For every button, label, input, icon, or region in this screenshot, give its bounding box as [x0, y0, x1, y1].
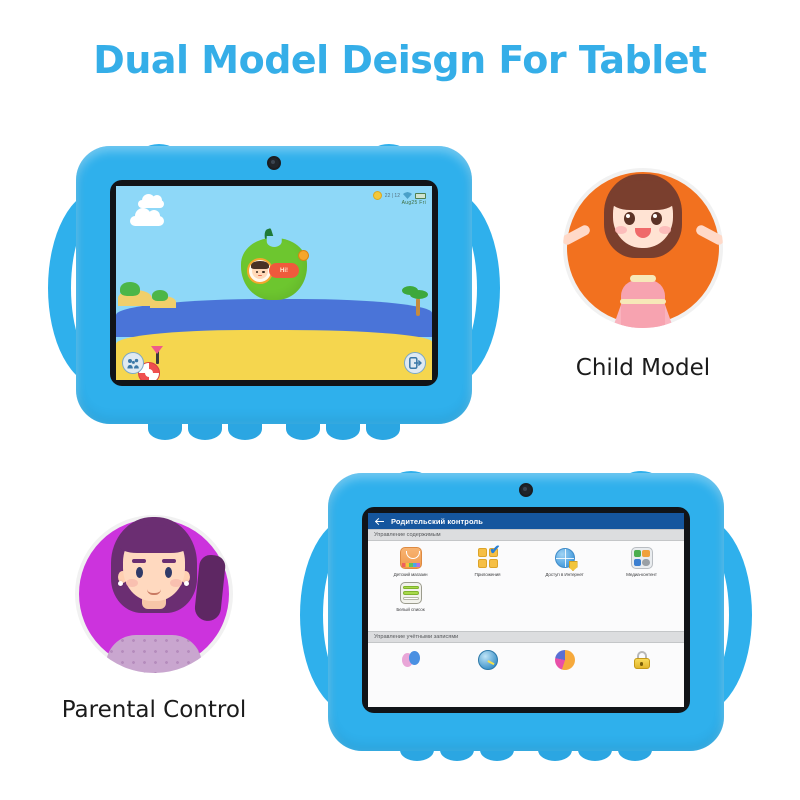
girl-eye: [624, 212, 635, 225]
girl-eye: [651, 212, 662, 225]
cloud-icon: [130, 216, 164, 226]
pc-item-internet[interactable]: Доступ в Интернет: [526, 546, 603, 577]
woman-ponytail: [194, 554, 227, 622]
padlock-icon: [630, 648, 654, 672]
apps-grid-icon: ✔: [476, 546, 500, 570]
accounts-icon-grid: [368, 643, 684, 674]
product-feature-image: Dual Model Deisgn For Tablet: [0, 0, 800, 800]
sand-background: [116, 330, 432, 380]
child-model-caption: Child Model: [513, 355, 773, 381]
status-bar: 22 | 12: [373, 191, 426, 200]
girl-cheek: [659, 226, 671, 234]
tablet-screen-child[interactable]: 22 | 12 Aug25 Fri: [116, 186, 432, 380]
girl-belt: [620, 299, 666, 304]
woman-shirt-pattern: [106, 635, 202, 673]
greeting-badge: Hi!: [269, 263, 299, 278]
section-body-accounts: [368, 643, 684, 707]
avatar-hair: [251, 261, 269, 269]
status-date: Aug25 Fri: [402, 200, 426, 206]
back-arrow-icon[interactable]: [375, 517, 385, 526]
pc-item-media[interactable]: Медиа-контент: [603, 546, 680, 577]
front-camera-icon: [519, 483, 533, 497]
girl-dress: [621, 280, 665, 328]
woman-avatar-icon: [75, 515, 233, 673]
girl-fringe: [611, 180, 675, 210]
tablet-screen-parent[interactable]: Родительский контроль Управление содержи…: [368, 513, 684, 707]
palm-leaf: [402, 286, 418, 295]
header-title: Родительский контроль: [391, 517, 483, 526]
family-button[interactable]: [122, 352, 144, 374]
wifi-icon: [403, 192, 412, 199]
woman-earring: [118, 581, 123, 586]
coin-icon: [298, 250, 309, 261]
woman-shirt: [106, 635, 202, 673]
parental-control-caption: Parental Control: [24, 697, 284, 723]
pc-item-whitelist[interactable]: Белый список: [372, 581, 449, 612]
globe-shield-icon: [553, 546, 577, 570]
screen-bezel: 22 | 12 Aug25 Fri: [110, 180, 438, 386]
apple-widget[interactable]: Hi!: [241, 238, 307, 300]
apple-notch: [267, 236, 282, 247]
parent-persona: [75, 515, 233, 673]
pc-item-password[interactable]: [603, 648, 680, 672]
content-icon-grid: Детский магазин ✔ Приложения: [368, 541, 684, 614]
pc-item-kids-store[interactable]: Детский магазин: [372, 546, 449, 577]
tablet-case: 22 | 12 Aug25 Fri: [76, 146, 472, 424]
woman-earring: [184, 581, 189, 586]
avatar-eye: [262, 271, 265, 274]
tablet-parent-mode: Родительский контроль Управление содержи…: [300, 465, 752, 775]
pie-chart-icon: [553, 648, 577, 672]
woman-brow: [162, 559, 176, 563]
exit-button[interactable]: [404, 352, 426, 374]
section-body-content: Детский магазин ✔ Приложения: [368, 541, 684, 631]
woman-cheek: [170, 579, 182, 587]
woman-eye: [136, 567, 143, 578]
shopping-bag-icon: [399, 546, 423, 570]
woman-fringe: [119, 525, 189, 553]
girl-arm-left: [563, 224, 592, 247]
bush-icon: [152, 290, 168, 301]
tablet-child-mode: 22 | 12 Aug25 Fri: [48, 138, 500, 438]
balloons-icon: [399, 648, 423, 672]
pc-item-apps[interactable]: ✔ Приложения: [449, 546, 526, 577]
girl-avatar-icon: [563, 168, 723, 328]
signal-text: 22 | 12: [385, 193, 400, 199]
girl-arm-right: [694, 224, 723, 247]
page-title: Dual Model Deisgn For Tablet: [0, 38, 800, 82]
bush-icon: [120, 282, 140, 296]
section-header-content: Управление содержимым: [368, 529, 684, 541]
tablet-case: Родительский контроль Управление содержи…: [328, 473, 724, 751]
checklist-icon: [399, 581, 423, 605]
pc-item-label: Детский магазин: [394, 572, 428, 577]
pc-item-profiles[interactable]: [372, 648, 449, 672]
girl-cheek: [615, 226, 627, 234]
girl-collar: [630, 275, 656, 282]
media-folder-icon: [630, 546, 654, 570]
parental-control-header: Родительский контроль: [368, 513, 684, 529]
palm-trunk: [416, 298, 420, 316]
timer-icon: [476, 648, 500, 672]
pc-item-usage-stats[interactable]: [526, 648, 603, 672]
woman-brow: [132, 559, 146, 563]
pc-item-label: Приложения: [475, 572, 501, 577]
cloud-icon: [138, 200, 164, 208]
woman-eye: [165, 567, 172, 578]
woman-cheek: [126, 579, 138, 587]
front-camera-icon: [267, 156, 281, 170]
sun-icon: [373, 191, 382, 200]
pc-item-label: Доступ в Интернет: [545, 572, 583, 577]
pc-item-label: Медиа-контент: [626, 572, 657, 577]
screen-bezel: Родительский контроль Управление содержи…: [362, 507, 690, 713]
child-persona: [563, 168, 723, 328]
battery-icon: [415, 193, 426, 199]
pc-item-label: Белый список: [396, 607, 424, 612]
section-header-accounts: Управление учётными записями: [368, 631, 684, 643]
pc-item-screentime[interactable]: [449, 648, 526, 672]
